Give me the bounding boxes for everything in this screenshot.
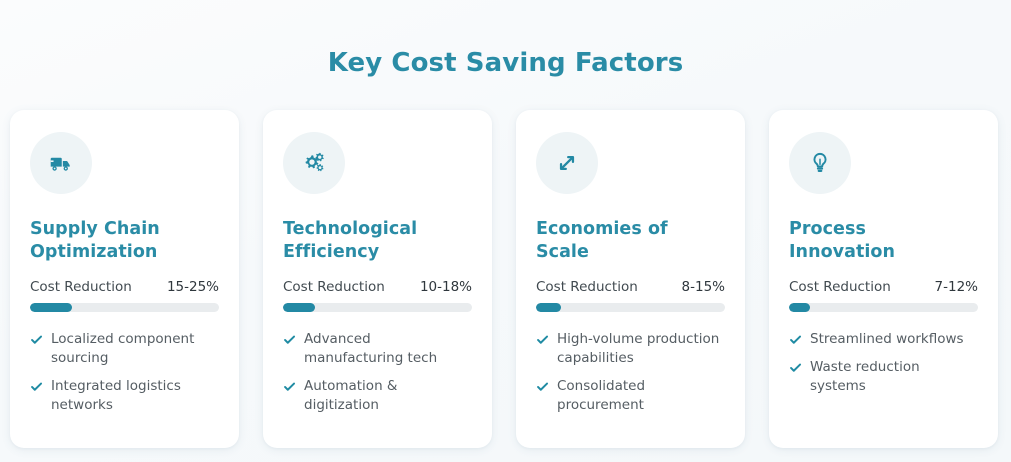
- feature-list: Localized component sourcing Integrated …: [30, 330, 219, 416]
- page-root: Key Cost Saving Factors Supply Chain Opt…: [0, 0, 1011, 462]
- factor-card-economies-of-scale[interactable]: Economies of Scale Cost Reduction 8-15% …: [516, 110, 745, 448]
- metric-value: 10-18%: [420, 279, 472, 295]
- list-item: Localized component sourcing: [30, 330, 219, 368]
- progress-fill: [30, 303, 72, 312]
- list-item: Streamlined workflows: [789, 330, 978, 349]
- list-item: Advanced manufacturing tech: [283, 330, 472, 368]
- factor-card-supply-chain-optimization[interactable]: Supply Chain Optimization Cost Reduction…: [10, 110, 239, 448]
- feature-text: Waste reduction systems: [810, 358, 978, 396]
- cost-reduction-progress-bar: [30, 303, 219, 312]
- gears-icon: [283, 132, 345, 194]
- feature-list: High-volume production capabilities Cons…: [536, 330, 725, 416]
- cards-grid: Supply Chain Optimization Cost Reduction…: [10, 110, 1001, 448]
- factor-card-technological-efficiency[interactable]: Technological Efficiency Cost Reduction …: [263, 110, 492, 448]
- feature-text: Localized component sourcing: [51, 330, 219, 368]
- metric-value: 7-12%: [935, 279, 978, 295]
- progress-fill: [789, 303, 810, 312]
- check-icon: [536, 333, 549, 346]
- feature-text: Consolidated procurement: [557, 377, 725, 415]
- check-icon: [283, 333, 296, 346]
- feature-list: Streamlined workflows Waste reduction sy…: [789, 330, 978, 396]
- cost-reduction-progress-bar: [283, 303, 472, 312]
- feature-text: Integrated logistics networks: [51, 377, 219, 415]
- progress-fill: [283, 303, 315, 312]
- check-icon: [283, 380, 296, 393]
- feature-text: High-volume production capabilities: [557, 330, 725, 368]
- expand-arrows-icon: [536, 132, 598, 194]
- metric-label: Cost Reduction: [30, 279, 132, 295]
- feature-text: Advanced manufacturing tech: [304, 330, 472, 368]
- check-icon: [789, 361, 802, 374]
- cost-reduction-progress-bar: [789, 303, 978, 312]
- card-title: Economies of Scale: [536, 218, 725, 265]
- feature-text: Streamlined workflows: [810, 330, 978, 349]
- check-icon: [30, 380, 43, 393]
- progress-fill: [536, 303, 561, 312]
- metric-row: Cost Reduction 7-12%: [789, 279, 978, 295]
- metric-value: 8-15%: [682, 279, 725, 295]
- metric-row: Cost Reduction 10-18%: [283, 279, 472, 295]
- list-item: Waste reduction systems: [789, 358, 978, 396]
- card-title: Supply Chain Optimization: [30, 218, 219, 265]
- check-icon: [789, 333, 802, 346]
- list-item: High-volume production capabilities: [536, 330, 725, 368]
- page-title: Key Cost Saving Factors: [0, 48, 1011, 78]
- metric-label: Cost Reduction: [283, 279, 385, 295]
- card-title: Technological Efficiency: [283, 218, 472, 265]
- feature-text: Automation & digitization: [304, 377, 472, 415]
- delivery-truck-icon: [30, 132, 92, 194]
- card-title: Process Innovation: [789, 218, 978, 265]
- list-item: Automation & digitization: [283, 377, 472, 415]
- list-item: Integrated logistics networks: [30, 377, 219, 415]
- check-icon: [536, 380, 549, 393]
- metric-label: Cost Reduction: [536, 279, 638, 295]
- metric-row: Cost Reduction 15-25%: [30, 279, 219, 295]
- metric-label: Cost Reduction: [789, 279, 891, 295]
- metric-row: Cost Reduction 8-15%: [536, 279, 725, 295]
- lightbulb-icon: [789, 132, 851, 194]
- factor-card-process-innovation[interactable]: Process Innovation Cost Reduction 7-12% …: [769, 110, 998, 448]
- check-icon: [30, 333, 43, 346]
- metric-value: 15-25%: [167, 279, 219, 295]
- feature-list: Advanced manufacturing tech Automation &…: [283, 330, 472, 416]
- cost-reduction-progress-bar: [536, 303, 725, 312]
- list-item: Consolidated procurement: [536, 377, 725, 415]
